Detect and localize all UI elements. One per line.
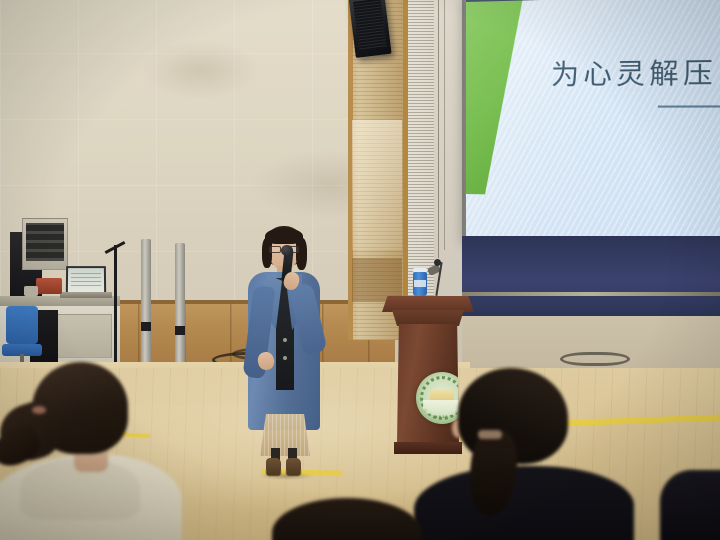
cable-coil <box>560 352 630 366</box>
laptop-screen <box>66 266 106 292</box>
mic-stand <box>114 245 117 371</box>
hanging-cable <box>438 0 439 258</box>
control-panel-switches <box>26 223 64 261</box>
audience-member-right-edge <box>660 470 720 540</box>
slide-title-rule <box>658 105 720 107</box>
audience-member-front-right <box>418 368 628 540</box>
laptop-keyboard <box>60 292 112 298</box>
hair-tie <box>478 430 502 439</box>
hair-tie <box>32 406 46 414</box>
audience-member-front-center <box>272 498 422 540</box>
slide-title: 为心灵解压 <box>551 50 717 92</box>
coat-button <box>283 356 287 360</box>
audience-shoulder <box>660 470 720 540</box>
presenter-hair-side <box>262 238 272 268</box>
podium-desktop <box>382 296 474 312</box>
speaker-grille <box>353 0 387 50</box>
presenter-hair-side <box>296 238 307 270</box>
wall-control-panel <box>22 218 68 270</box>
net-post-fitting <box>175 326 185 335</box>
net-post <box>175 243 185 367</box>
thermos-label <box>414 280 426 287</box>
photo-scene: 为心灵解压 <box>0 0 720 540</box>
net-post-fitting <box>141 322 151 331</box>
coat-button <box>283 338 287 342</box>
laptop-screen-content <box>71 272 101 286</box>
desk-item <box>36 278 62 294</box>
skirt-tulle-texture <box>260 414 310 456</box>
presenter <box>236 226 332 476</box>
column-light-wash <box>352 120 402 250</box>
audience-top <box>414 466 634 540</box>
wall-speaker-icon <box>348 0 391 58</box>
glasses-lens <box>269 246 281 253</box>
hanging-cable <box>444 0 445 250</box>
blue-chair-back <box>6 306 38 344</box>
desk-panel <box>56 314 112 358</box>
projection-screen: 为心灵解压 <box>466 0 720 248</box>
audience-member-front-left <box>0 362 176 540</box>
gooseneck-mic-head <box>434 259 441 266</box>
microphone-head <box>281 245 293 256</box>
podium-neck <box>392 310 464 326</box>
audience-hair <box>272 498 422 540</box>
net-post <box>141 239 151 367</box>
desk-item <box>24 286 38 296</box>
presenter-shadow <box>258 472 314 480</box>
